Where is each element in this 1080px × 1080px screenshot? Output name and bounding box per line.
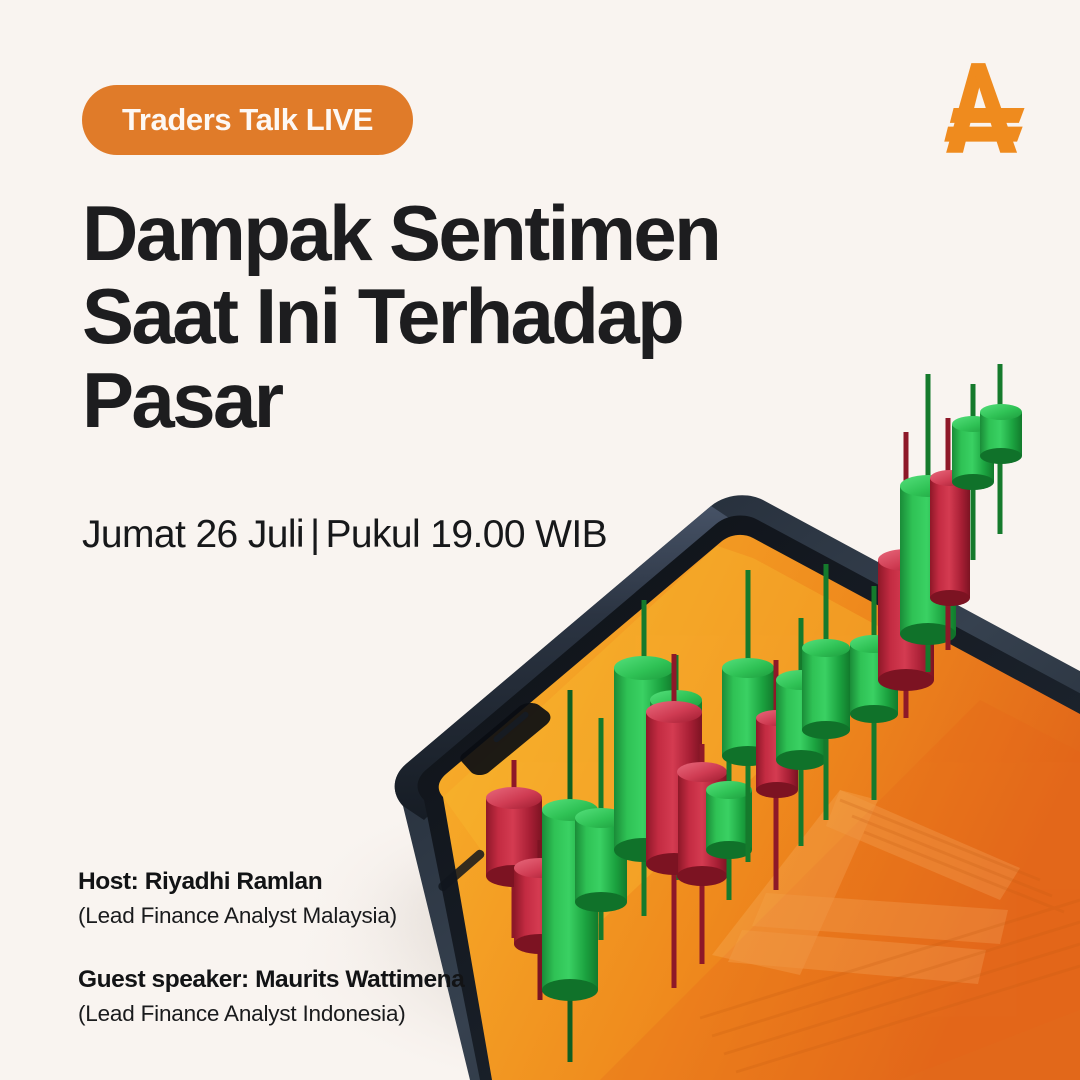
brand-logo-icon [920,52,1032,164]
guest-role: (Lead Finance Analyst Indonesia) [78,999,464,1029]
headline-line-2: Saat Ini Terhadap [82,275,802,358]
host-name: Host: Riyadhi Ramlan [78,866,464,898]
live-badge-label: Traders Talk LIVE [122,102,373,138]
guest-credit: Guest speaker: Maurits Wattimena (Lead F… [78,964,464,1029]
event-date: Jumat 26 Juli [82,513,304,556]
credits-block: Host: Riyadhi Ramlan (Lead Finance Analy… [78,866,464,1029]
live-badge[interactable]: Traders Talk LIVE [82,85,413,155]
datetime-separator: | [304,513,326,556]
poster-canvas: Traders Talk LIVE Dampak Sentimen Saat I… [0,0,1080,1080]
page-title: Dampak Sentimen Saat Ini Terhadap Pasar [82,192,802,442]
event-time: Pukul 19.00 WIB [326,513,607,556]
poster-content: Traders Talk LIVE Dampak Sentimen Saat I… [0,0,1080,1080]
headline-line-3: Pasar [82,359,802,442]
host-role: (Lead Finance Analyst Malaysia) [78,901,464,931]
guest-name: Guest speaker: Maurits Wattimena [78,964,464,996]
host-credit: Host: Riyadhi Ramlan (Lead Finance Analy… [78,866,464,931]
event-datetime: Jumat 26 Juli|Pukul 19.00 WIB [82,513,607,557]
headline-line-1: Dampak Sentimen [82,192,802,275]
